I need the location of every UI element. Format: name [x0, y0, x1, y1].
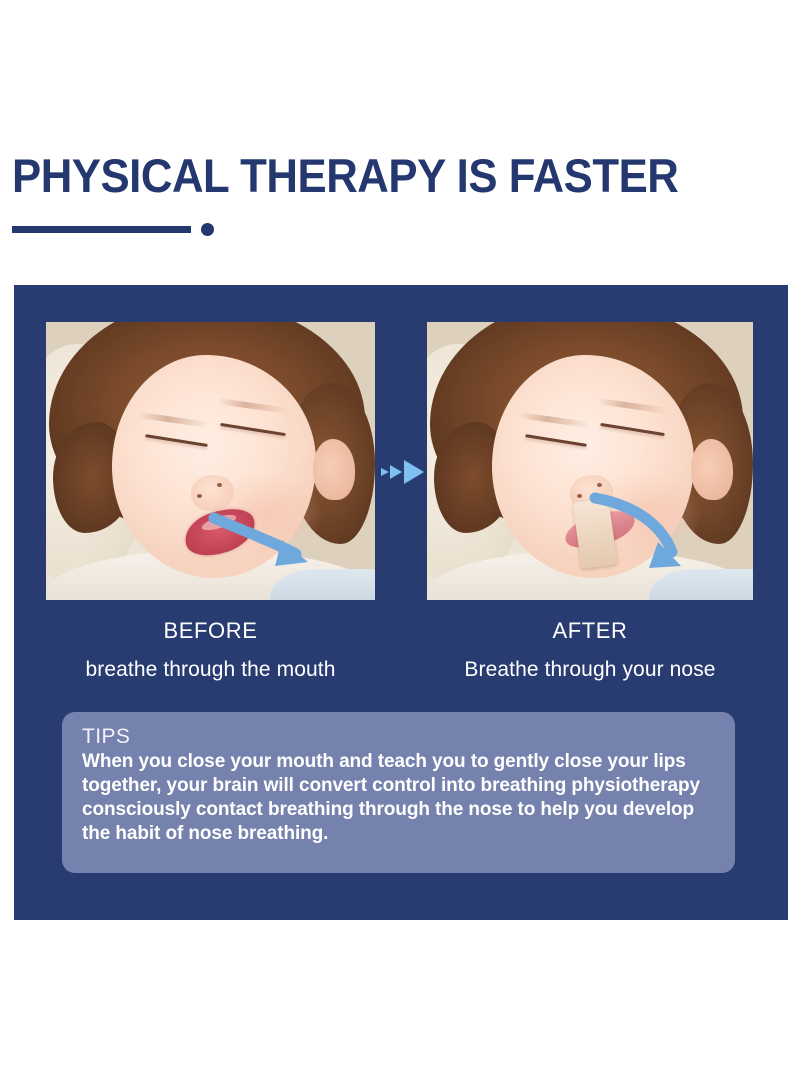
step-before: BEFORE breathe through the mouth	[46, 618, 375, 682]
photo-before-artwork	[46, 322, 375, 600]
step-after-description: Breathe through your nose	[427, 657, 753, 682]
page-title: PHYSICAL THERAPY IS FASTER	[12, 150, 678, 202]
photo-before[interactable]	[46, 322, 375, 600]
tips-body-text: When you close your mouth and teach you …	[82, 750, 717, 846]
title-underline-rule	[12, 226, 191, 233]
step-before-title: BEFORE	[46, 618, 375, 644]
step-before-description: breathe through the mouth	[46, 657, 375, 682]
curved-arrow-from-nose-icon	[427, 322, 753, 600]
photo-after-artwork	[427, 322, 753, 600]
tips-box: TIPS When you close your mouth and teach…	[62, 712, 735, 873]
bullet-dot-icon	[201, 223, 214, 236]
photo-after[interactable]	[427, 322, 753, 600]
triple-chevron-right-icon	[379, 455, 427, 489]
tips-heading: TIPS	[82, 724, 717, 749]
comparison-panel: BEFORE breathe through the mouth AFTER B…	[14, 285, 788, 920]
curved-arrow-from-mouth-icon	[46, 322, 375, 600]
step-after: AFTER Breathe through your nose	[427, 618, 753, 682]
step-after-title: AFTER	[427, 618, 753, 644]
